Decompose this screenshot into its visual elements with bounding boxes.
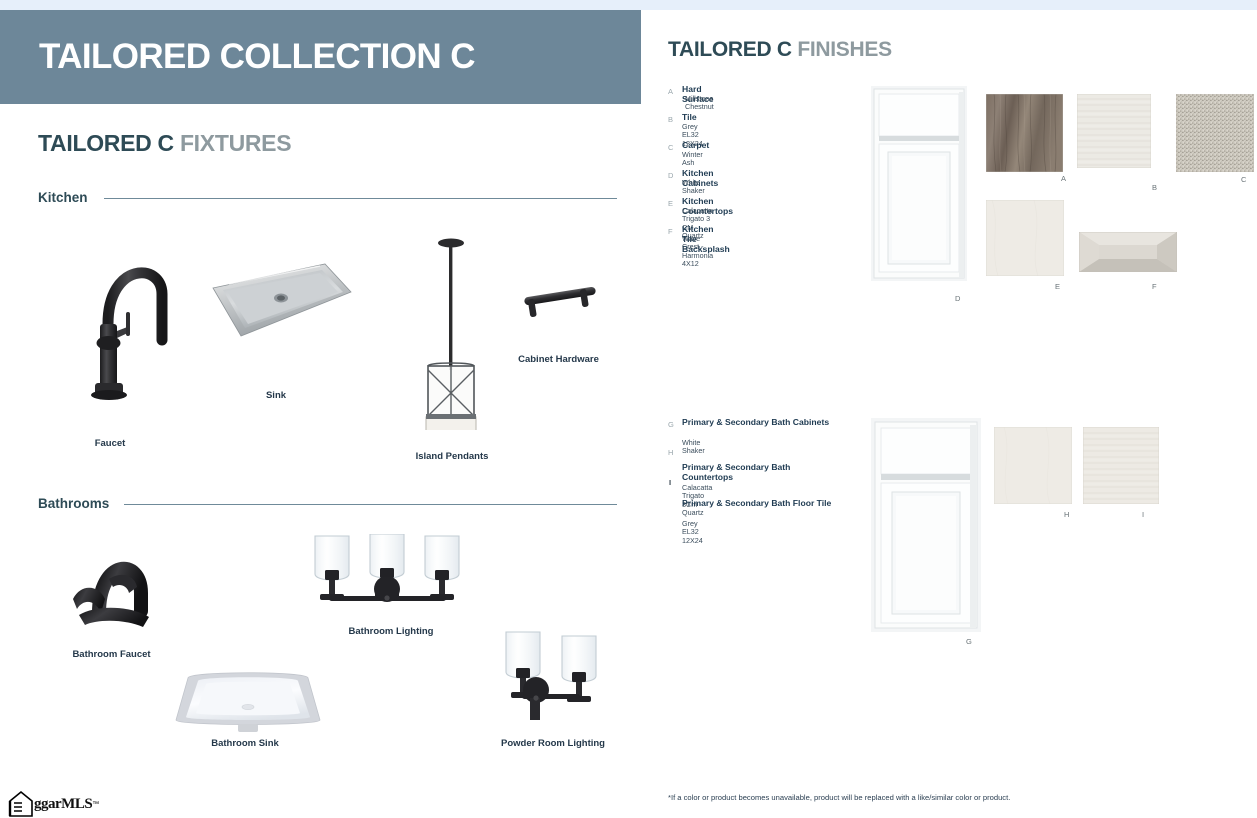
finish-letter-h: H — [668, 448, 673, 457]
section-rule-kitchen — [104, 198, 617, 199]
fixture-label-island-pendants: Island Pendants — [400, 451, 504, 462]
bathroom-lighting-image — [305, 534, 475, 622]
house-icon — [8, 790, 34, 818]
finish-letter-c: C — [668, 143, 673, 152]
swatch-cabinet-g — [871, 418, 981, 632]
swatch-label-h: H — [1064, 510, 1069, 519]
swatch-label-b: B — [1152, 183, 1157, 192]
finish-sub-i: Grey EL32 12X24 — [682, 520, 703, 545]
watermark-text: ggarMLS — [34, 796, 92, 813]
finishes-heading-grey: FINISHES — [797, 38, 891, 61]
fixture-label-powder-room-lighting: Powder Room Lighting — [492, 738, 614, 749]
fixture-label-bathroom-faucet: Bathroom Faucet — [58, 649, 165, 660]
finish-letter-d: D — [668, 171, 673, 180]
finish-title-c: Carpet — [682, 140, 709, 150]
swatch-backsplash-f — [1079, 232, 1177, 272]
swatch-countertop-e — [986, 200, 1064, 276]
finish-letter-e: E — [668, 199, 673, 208]
disclaimer-text: *If a color or product becomes unavailab… — [668, 793, 1010, 802]
swatch-bath-countertop-h — [994, 427, 1072, 504]
fixtures-heading-dark: TAILORED C — [38, 130, 174, 156]
fixture-label-cabinet-hardware: Cabinet Hardware — [505, 354, 612, 365]
finish-letter-i: I — [669, 478, 671, 487]
fixture-label-bathroom-lighting: Bathroom Lighting — [336, 626, 446, 637]
sink-image — [205, 258, 355, 348]
page-header-bar: TAILORED COLLECTION C — [0, 10, 641, 104]
fixture-label-sink: Sink — [236, 390, 316, 401]
watermark-tm: ™ — [92, 801, 99, 808]
finish-letter-b: B — [668, 115, 673, 124]
fixture-label-faucet: Faucet — [60, 438, 160, 449]
finish-letter-a: A — [668, 87, 673, 96]
finish-sub-d: White Shaker — [682, 179, 705, 196]
section-rule-bathrooms — [124, 504, 617, 505]
swatch-label-i: I — [1142, 510, 1144, 519]
powder-room-lighting-image — [500, 630, 608, 722]
section-heading-bathrooms: Bathrooms — [38, 496, 109, 511]
page-title: TAILORED COLLECTION C — [0, 37, 475, 77]
fixtures-heading: TAILORED C FIXTURES — [38, 130, 291, 157]
top-color-strip — [0, 0, 1257, 10]
finishes-panel: TAILORED C FINISHES A Hard Surface Mills… — [641, 10, 1257, 813]
swatch-label-g: G — [966, 637, 972, 646]
finish-letter-f: F — [668, 227, 673, 236]
swatch-label-f: F — [1152, 282, 1157, 291]
swatch-carpet-c — [1176, 94, 1254, 172]
swatch-label-e: E — [1055, 282, 1060, 291]
cabinet-hardware-image — [518, 286, 602, 324]
fixtures-heading-grey: FIXTURES — [180, 130, 291, 156]
finish-title-i: Primary & Secondary Bath Floor Tile — [682, 498, 848, 508]
swatch-label-a: A — [1061, 174, 1066, 183]
fixtures-panel: TAILORED COLLECTION C TAILORED C FIXTURE… — [0, 10, 641, 813]
swatch-bath-floor-tile-i — [1083, 427, 1159, 504]
finish-title-h: Primary & Secondary Bath Countertops — [682, 462, 834, 482]
finish-title-b: Tile — [682, 112, 697, 122]
swatch-cabinet-d — [871, 86, 967, 281]
finish-sub-c: Winter Ash — [682, 151, 703, 168]
finishes-heading-dark: TAILORED C — [668, 38, 792, 61]
swatch-tile-b — [1077, 94, 1151, 168]
finish-title-g: Primary & Secondary Bath Cabinets — [682, 417, 834, 427]
finish-letter-g: G — [668, 420, 674, 429]
faucet-image — [72, 228, 172, 418]
watermark-logo: ggarMLS™ — [8, 790, 99, 818]
finish-sub-g: White Shaker — [682, 439, 705, 456]
bathroom-faucet-image — [55, 541, 170, 631]
finish-sub-f: Wave Crest - Harmonia 4X12 — [682, 235, 713, 269]
bathroom-sink-image — [172, 662, 324, 734]
section-heading-kitchen: Kitchen — [38, 190, 88, 205]
finish-sub-a: Millstone Chestnut — [685, 95, 714, 112]
fixture-label-bathroom-sink: Bathroom Sink — [196, 738, 294, 749]
island-pendant-image — [418, 236, 484, 430]
swatch-label-d: D — [955, 294, 960, 303]
swatch-hard-surface-a — [986, 94, 1063, 172]
finishes-heading: TAILORED C FINISHES — [668, 38, 892, 62]
swatch-label-c: C — [1241, 175, 1246, 184]
